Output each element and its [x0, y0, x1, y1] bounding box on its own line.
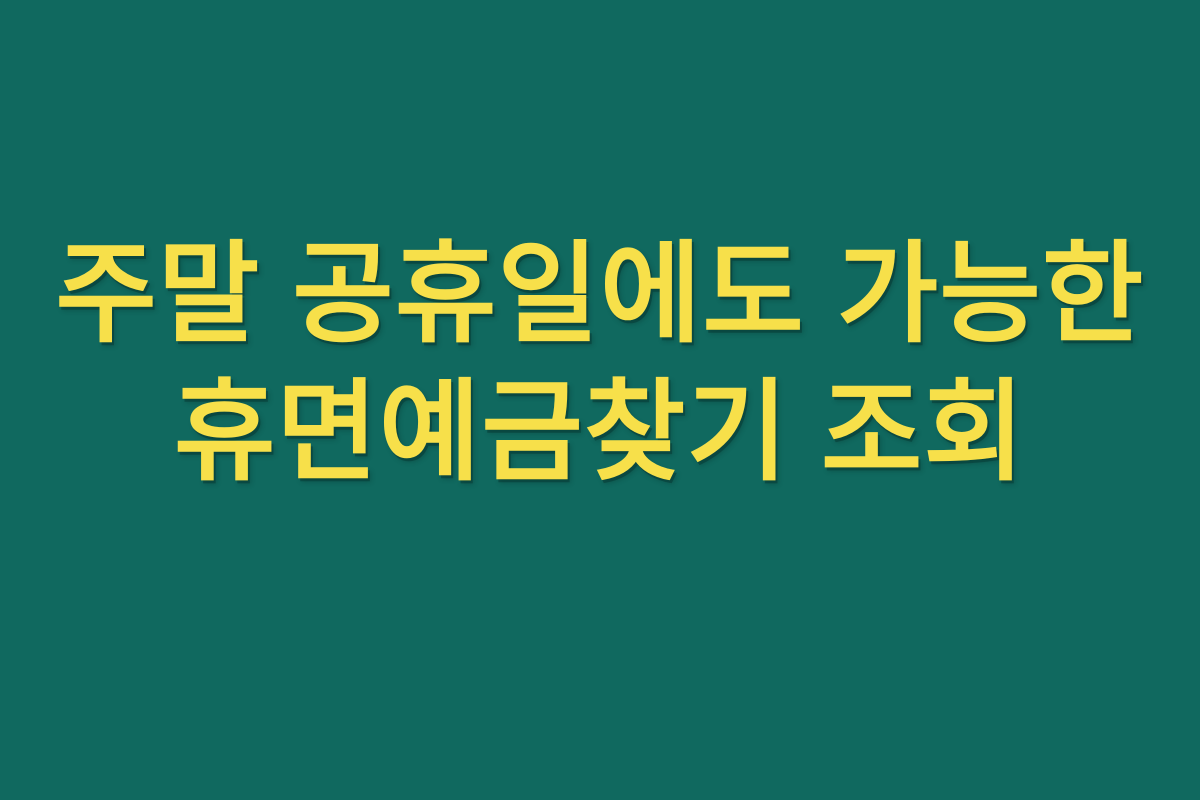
headline-block: 주말 공휴일에도 가능한 휴면예금찾기 조회: [0, 228, 1200, 500]
banner-canvas: 주말 공휴일에도 가능한 휴면예금찾기 조회: [0, 0, 1200, 800]
headline-line-1: 주말 공휴일에도 가능한: [0, 228, 1200, 362]
headline-line-2: 휴면예금찾기 조회: [0, 366, 1200, 500]
